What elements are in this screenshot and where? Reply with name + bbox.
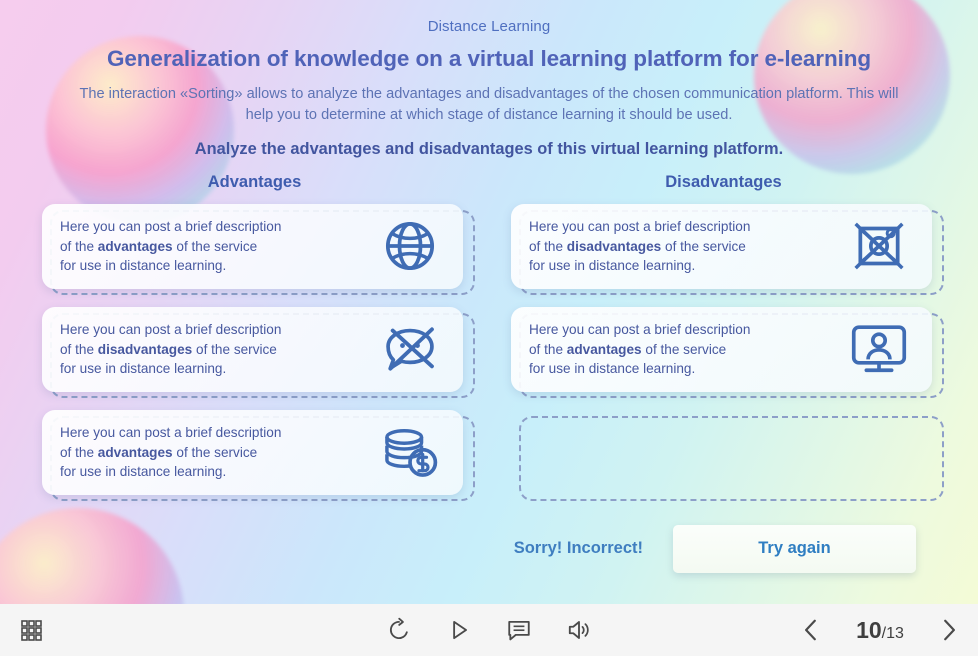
- intro-paragraph: The interaction «Sorting» allows to anal…: [69, 84, 909, 127]
- column-disadvantages: Disadvantages Here you can post a brief …: [511, 173, 936, 513]
- globe-icon: [379, 217, 441, 275]
- player-toolbar: 10 / 13: [0, 604, 978, 656]
- card-keyword: advantages: [567, 342, 642, 357]
- task-prompt: Analyze the advantages and disadvantages…: [0, 140, 978, 159]
- column-header-disadvantages: Disadvantages: [511, 173, 936, 192]
- sortable-card[interactable]: Here you can post a brief descriptionof …: [42, 204, 463, 289]
- chevron-left-icon[interactable]: [798, 616, 824, 644]
- drop-zone[interactable]: [519, 416, 944, 501]
- no-chat-icon: [379, 320, 441, 378]
- page-indicator: 10 / 13: [844, 617, 916, 644]
- slide-canvas: Distance Learning Generalization of know…: [0, 0, 978, 604]
- sortable-card[interactable]: Here you can post a brief descriptionof …: [511, 204, 932, 289]
- replay-icon[interactable]: [386, 617, 412, 643]
- sorting-slot[interactable]: [511, 410, 936, 495]
- sorting-slot[interactable]: Here you can post a brief descriptionof …: [511, 204, 936, 289]
- card-keyword: disadvantages: [567, 239, 661, 254]
- card-keyword: advantages: [98, 445, 173, 460]
- advantages-slot-list: Here you can post a brief descriptionof …: [42, 204, 467, 495]
- notes-icon[interactable]: [506, 617, 532, 643]
- card-description: Here you can post a brief descriptionof …: [529, 320, 848, 378]
- feedback-message: Sorry! Incorrect!: [514, 539, 643, 558]
- toolbar-navigation: 10 / 13: [798, 616, 962, 644]
- card-description: Here you can post a brief descriptionof …: [60, 217, 379, 275]
- card-description: Here you can post a brief descriptionof …: [529, 217, 848, 275]
- feedback-row: Sorry! Incorrect! Try again: [0, 525, 978, 573]
- sortable-card[interactable]: Here you can post a brief descriptionof …: [42, 410, 463, 495]
- card-keyword: disadvantages: [98, 342, 192, 357]
- slide-header: Distance Learning Generalization of know…: [0, 0, 978, 159]
- column-advantages: Advantages Here you can post a brief des…: [42, 173, 467, 513]
- crossed-box-icon: [848, 217, 910, 275]
- try-again-button[interactable]: Try again: [673, 525, 916, 573]
- sorting-slot[interactable]: Here you can post a brief descriptionof …: [511, 307, 936, 392]
- grid-menu-icon[interactable]: [14, 613, 48, 647]
- page-current: 10: [856, 617, 882, 644]
- sorting-columns: Advantages Here you can post a brief des…: [0, 173, 978, 513]
- sorting-slot[interactable]: Here you can post a brief descriptionof …: [42, 307, 467, 392]
- sortable-card[interactable]: Here you can post a brief descriptionof …: [511, 307, 932, 392]
- volume-icon[interactable]: [566, 617, 592, 643]
- sorting-slot[interactable]: Here you can post a brief descriptionof …: [42, 410, 467, 495]
- sorting-slot[interactable]: Here you can post a brief descriptionof …: [42, 204, 467, 289]
- page-title: Generalization of knowledge on a virtual…: [0, 46, 978, 72]
- play-icon[interactable]: [446, 617, 472, 643]
- monitor-person-icon: [848, 320, 910, 378]
- page-total: 13: [886, 625, 904, 643]
- chevron-right-icon[interactable]: [936, 616, 962, 644]
- column-header-advantages: Advantages: [42, 173, 467, 192]
- coins-dollar-icon: [379, 423, 441, 481]
- slide-player: Distance Learning Generalization of know…: [0, 0, 978, 656]
- sortable-card[interactable]: Here you can post a brief descriptionof …: [42, 307, 463, 392]
- card-description: Here you can post a brief descriptionof …: [60, 320, 379, 378]
- disadvantages-slot-list: Here you can post a brief descriptionof …: [511, 204, 936, 495]
- card-keyword: advantages: [98, 239, 173, 254]
- course-label: Distance Learning: [0, 18, 978, 35]
- card-description: Here you can post a brief descriptionof …: [60, 423, 379, 481]
